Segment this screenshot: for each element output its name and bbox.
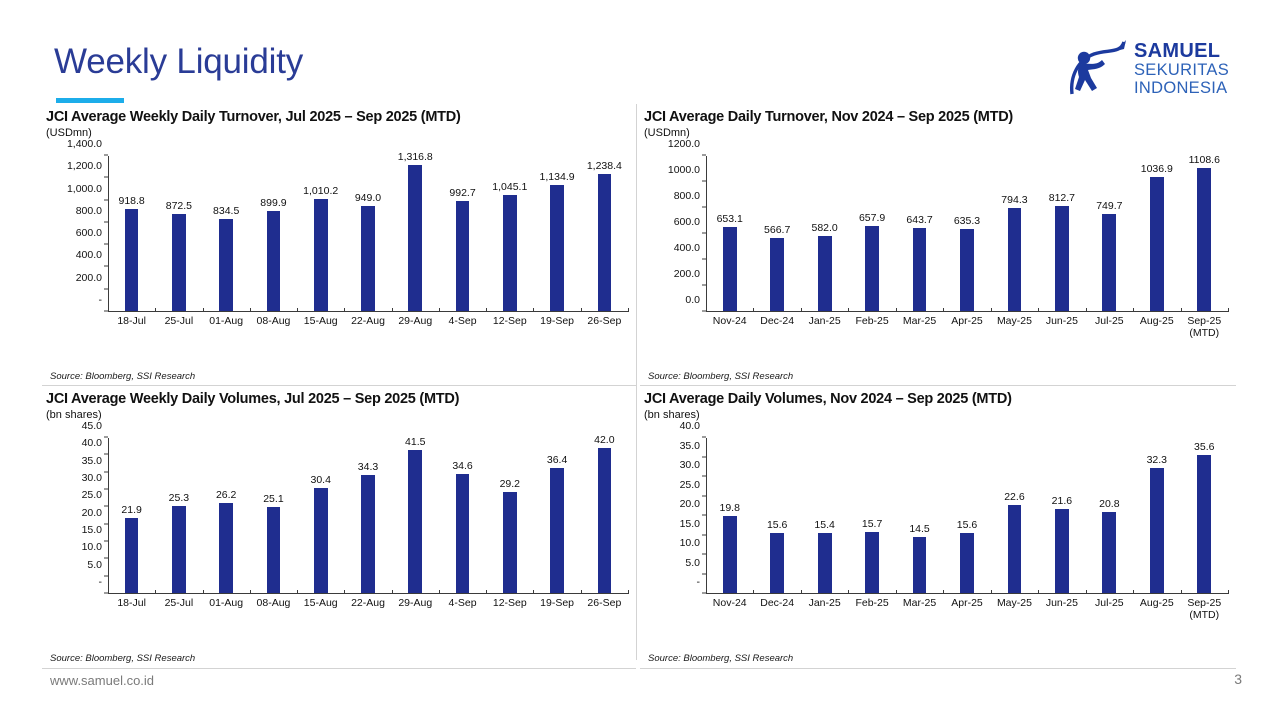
logo-line-2: SEKURITAS <box>1134 62 1229 80</box>
x-axis-category-label: 08-Aug <box>250 597 297 609</box>
bar-value-label: 35.6 <box>1194 441 1214 453</box>
bar[interactable]: 949.0 <box>361 206 375 311</box>
bar[interactable]: 749.7 <box>1102 214 1116 311</box>
bar-value-label: 15.7 <box>862 518 882 530</box>
bar-value-label: 872.5 <box>166 200 192 212</box>
bar[interactable]: 30.4 <box>314 488 328 593</box>
bar-slot: 872.525-Jul <box>155 156 202 311</box>
divider-vertical <box>636 104 637 660</box>
bar-value-label: 30.4 <box>310 474 330 486</box>
slide: Weekly Liquidity SAMUEL SEKURITAS INDONE… <box>0 0 1280 720</box>
bar[interactable]: 812.7 <box>1055 206 1069 311</box>
y-axis-tick-label: 200.0 <box>674 268 700 280</box>
y-axis-tick-label: 0.0 <box>685 294 700 306</box>
y-axis-tick-label: 40.0 <box>82 437 102 449</box>
bar[interactable]: 1,316.8 <box>408 165 422 311</box>
x-axis-category-label: Sep-25(MTD) <box>1181 315 1228 339</box>
bar[interactable]: 26.2 <box>219 503 233 593</box>
x-axis-category-label: May-25 <box>991 597 1038 609</box>
page-title: Weekly Liquidity <box>54 44 303 79</box>
chart-monthly-turnover: 0.0200.0400.0600.0800.01000.01200.0653.1… <box>644 146 1234 346</box>
x-axis-category-label: 25-Jul <box>155 315 202 327</box>
bar-value-label: 794.3 <box>1001 194 1027 206</box>
x-axis-category-label: 12-Sep <box>486 315 533 327</box>
logo-wordmark: SAMUEL SEKURITAS INDONESIA <box>1134 41 1229 98</box>
bar[interactable]: 15.6 <box>960 533 974 593</box>
x-axis-category-label: Nov-24 <box>706 315 753 327</box>
chart-weekly-turnover: -200.0400.0600.0800.01,000.01,200.01,400… <box>46 146 634 346</box>
bar-slot: 1,045.112-Sep <box>486 156 533 311</box>
y-axis-tick-label: - <box>99 294 103 306</box>
divider-bottom-left <box>42 668 636 669</box>
x-axis-category-label: Jun-25 <box>1038 597 1085 609</box>
y-axis-tick-label: 5.0 <box>87 559 102 571</box>
bar-slot: 26.201-Aug <box>203 438 250 593</box>
bar-value-label: 29.2 <box>500 478 520 490</box>
bar[interactable]: 1108.6 <box>1197 168 1211 311</box>
bar-value-label: 1,010.2 <box>303 185 338 197</box>
y-axis-tick-label: 800.0 <box>76 205 102 217</box>
bar-value-label: 22.6 <box>1004 491 1024 503</box>
bar-value-label: 1,238.4 <box>587 160 622 172</box>
panel-monthly-turnover: JCI Average Daily Turnover, Nov 2024 – S… <box>644 110 1234 382</box>
x-axis-category-label: 4-Sep <box>439 597 486 609</box>
y-axis-tick-label: - <box>99 576 103 588</box>
panel-weekly-turnover: JCI Average Weekly Daily Turnover, Jul 2… <box>46 110 634 382</box>
y-axis-tick-label: 15.0 <box>680 518 700 530</box>
bar-slot: 34.64-Sep <box>439 438 486 593</box>
bar[interactable]: 29.2 <box>503 492 517 593</box>
bar-slot: 1,316.829-Aug <box>392 156 439 311</box>
x-axis-category-label: Feb-25 <box>848 315 895 327</box>
bar-slot: 749.7Jul-25 <box>1086 156 1133 311</box>
y-axis-tick-label: 600.0 <box>76 227 102 239</box>
panel-source: Source: Bloomberg, SSI Research <box>50 653 195 664</box>
panel-unit-label: (USDmn) <box>644 127 1234 139</box>
bar[interactable]: 1,238.4 <box>598 174 612 311</box>
x-axis-category-label: 08-Aug <box>250 315 297 327</box>
bar[interactable]: 15.4 <box>818 533 832 593</box>
bar-slot: 29.212-Sep <box>486 438 533 593</box>
bar[interactable]: 15.6 <box>770 533 784 593</box>
chart-weekly-volumes: -5.010.015.020.025.030.035.040.045.021.9… <box>46 428 634 628</box>
x-axis-category-label: May-25 <box>991 315 1038 327</box>
plot-area: -5.010.015.020.025.030.035.040.019.8Nov-… <box>706 438 1228 594</box>
x-axis-category-label: 22-Aug <box>344 597 391 609</box>
x-axis-tick-mark <box>1228 590 1229 594</box>
x-axis-line <box>706 311 1228 312</box>
bar[interactable]: 15.7 <box>865 532 879 593</box>
y-axis-tick-label: 20.0 <box>680 498 700 510</box>
x-axis-category-label: 12-Sep <box>486 597 533 609</box>
footer-website-url: www.samuel.co.id <box>50 673 154 688</box>
bar-value-label: 899.9 <box>260 197 286 209</box>
divider-horizontal-right <box>640 385 1236 386</box>
bar[interactable]: 643.7 <box>913 228 927 311</box>
y-axis-tick-label: 30.0 <box>680 459 700 471</box>
bar-slot: 19.8Nov-24 <box>706 438 753 593</box>
x-axis-line <box>706 593 1228 594</box>
x-axis-tick-mark <box>1228 308 1229 312</box>
x-axis-category-label: 01-Aug <box>203 315 250 327</box>
y-axis-tick-label: 20.0 <box>82 507 102 519</box>
plot-area: -200.0400.0600.0800.01,000.01,200.01,400… <box>108 156 628 312</box>
x-axis-category-sublabel: (MTD) <box>1181 609 1228 621</box>
y-axis-tick-label: - <box>697 576 701 588</box>
bar[interactable]: 21.6 <box>1055 509 1069 593</box>
panel-title: JCI Average Daily Turnover, Nov 2024 – S… <box>644 110 1234 126</box>
x-axis-category-label: Dec-24 <box>753 597 800 609</box>
bar-slot: 36.419-Sep <box>533 438 580 593</box>
x-axis-category-label: 01-Aug <box>203 597 250 609</box>
panel-unit-label: (bn shares) <box>46 409 634 421</box>
page-number: 3 <box>1234 671 1242 687</box>
y-axis-tick-label: 1,200.0 <box>67 160 102 172</box>
bar[interactable]: 42.0 <box>598 448 612 593</box>
bar-value-label: 26.2 <box>216 489 236 501</box>
bar-value-label: 36.4 <box>547 454 567 466</box>
bar[interactable]: 32.3 <box>1150 468 1164 593</box>
panel-monthly-volumes: JCI Average Daily Volumes, Nov 2024 – Se… <box>644 392 1234 664</box>
bar-slot: 812.7Jun-25 <box>1038 156 1085 311</box>
x-axis-category-label: Aug-25 <box>1133 315 1180 327</box>
x-axis-category-label: Sep-25(MTD) <box>1181 597 1228 621</box>
bar-slot: 566.7Dec-24 <box>753 156 800 311</box>
bar-value-label: 41.5 <box>405 436 425 448</box>
y-axis-tick-label: 5.0 <box>685 557 700 569</box>
x-axis-line <box>108 593 628 594</box>
bar-slot: 14.5Mar-25 <box>896 438 943 593</box>
x-axis-tick-mark <box>628 590 629 594</box>
bar-value-label: 566.7 <box>764 224 790 236</box>
bar-value-label: 635.3 <box>954 215 980 227</box>
bar-value-label: 21.9 <box>121 504 141 516</box>
x-axis-category-label: 19-Sep <box>533 597 580 609</box>
bar-slot: 15.4Jan-25 <box>801 438 848 593</box>
bar[interactable]: 25.3 <box>172 506 186 593</box>
bar-value-label: 32.3 <box>1147 454 1167 466</box>
bar[interactable]: 25.1 <box>267 507 281 593</box>
bar[interactable]: 1,010.2 <box>314 199 328 311</box>
x-axis-category-label: 15-Aug <box>297 315 344 327</box>
bar-slot: 918.818-Jul <box>108 156 155 311</box>
panel-source: Source: Bloomberg, SSI Research <box>648 653 793 664</box>
x-axis-category-label: Feb-25 <box>848 597 895 609</box>
bar-value-label: 1,045.1 <box>492 181 527 193</box>
bar-slot: 992.74-Sep <box>439 156 486 311</box>
y-axis-tick-label: 25.0 <box>82 489 102 501</box>
bar[interactable]: 657.9 <box>865 226 879 311</box>
bar[interactable]: 34.6 <box>456 474 470 593</box>
y-axis-tick-label: 600.0 <box>674 216 700 228</box>
divider-bottom-right <box>640 668 1236 669</box>
bar-slot: 15.6Apr-25 <box>943 438 990 593</box>
y-axis-tick-label: 45.0 <box>82 420 102 432</box>
bar[interactable]: 1,045.1 <box>503 195 517 311</box>
bar-value-label: 25.3 <box>169 492 189 504</box>
x-axis-category-label: 26-Sep <box>581 315 628 327</box>
x-axis-category-label: 22-Aug <box>344 315 391 327</box>
y-axis-tick-label: 1200.0 <box>668 138 700 150</box>
x-axis-category-label: 26-Sep <box>581 597 628 609</box>
x-axis-line <box>108 311 628 312</box>
x-axis-category-label: 19-Sep <box>533 315 580 327</box>
x-axis-category-label: 18-Jul <box>108 597 155 609</box>
bar-value-label: 657.9 <box>859 212 885 224</box>
bar-value-label: 643.7 <box>906 214 932 226</box>
panel-unit-label: (bn shares) <box>644 409 1234 421</box>
bar[interactable]: 872.5 <box>172 214 186 311</box>
x-axis-category-label: 15-Aug <box>297 597 344 609</box>
x-axis-category-label: Dec-24 <box>753 315 800 327</box>
bar[interactable]: 21.9 <box>125 518 139 593</box>
bar-value-label: 25.1 <box>263 493 283 505</box>
y-axis-tick-label: 400.0 <box>674 242 700 254</box>
y-axis-tick-label: 15.0 <box>82 524 102 536</box>
y-axis-tick-label: 30.0 <box>82 472 102 484</box>
panel-unit-label: (USDmn) <box>46 127 634 139</box>
bar-value-label: 1036.9 <box>1141 163 1173 175</box>
bar-value-label: 992.7 <box>449 187 475 199</box>
bar[interactable]: 899.9 <box>267 211 281 311</box>
bar-slot: 42.026-Sep <box>581 438 628 593</box>
bar-slot: 834.501-Aug <box>203 156 250 311</box>
bar-value-label: 34.3 <box>358 461 378 473</box>
bar-slot: 21.918-Jul <box>108 438 155 593</box>
bar[interactable]: 1036.9 <box>1150 177 1164 311</box>
y-axis-tick-label: 10.0 <box>680 537 700 549</box>
x-axis-category-label: Mar-25 <box>896 315 943 327</box>
bar[interactable]: 36.4 <box>550 468 564 593</box>
bar-value-label: 14.5 <box>909 523 929 535</box>
bar[interactable]: 20.8 <box>1102 512 1116 593</box>
bar[interactable]: 19.8 <box>723 516 737 593</box>
x-axis-category-label: Jan-25 <box>801 597 848 609</box>
bar-slot: 15.7Feb-25 <box>848 438 895 593</box>
y-axis-tick-label: 200.0 <box>76 272 102 284</box>
bar-value-label: 834.5 <box>213 205 239 217</box>
y-axis-tick-label: 25.0 <box>680 479 700 491</box>
bar-value-label: 42.0 <box>594 434 614 446</box>
bar[interactable]: 35.6 <box>1197 455 1211 593</box>
bar-value-label: 15.6 <box>767 519 787 531</box>
bar-slot: 899.908-Aug <box>250 156 297 311</box>
x-axis-category-label: Apr-25 <box>943 315 990 327</box>
x-axis-category-label: 4-Sep <box>439 315 486 327</box>
bar[interactable]: 14.5 <box>913 537 927 593</box>
bar-slot: 657.9Feb-25 <box>848 156 895 311</box>
panel-weekly-volumes: JCI Average Weekly Daily Volumes, Jul 20… <box>46 392 634 664</box>
bar[interactable]: 794.3 <box>1008 208 1022 311</box>
bar[interactable]: 22.6 <box>1008 505 1022 593</box>
chart-monthly-volumes: -5.010.015.020.025.030.035.040.019.8Nov-… <box>644 428 1234 628</box>
bar-value-label: 1,316.8 <box>398 151 433 163</box>
bar-value-label: 34.6 <box>452 460 472 472</box>
logo-line-1: SAMUEL <box>1134 41 1229 62</box>
bar[interactable]: 918.8 <box>125 209 139 311</box>
y-axis-tick-label: 40.0 <box>680 420 700 432</box>
bar-slot: 15.6Dec-24 <box>753 438 800 593</box>
x-axis-category-label: Apr-25 <box>943 597 990 609</box>
panel-source: Source: Bloomberg, SSI Research <box>648 371 793 382</box>
bar[interactable]: 834.5 <box>219 219 233 311</box>
bar-slot: 1,238.426-Sep <box>581 156 628 311</box>
y-axis-tick-label: 1,400.0 <box>67 138 102 150</box>
bar-slot: 20.8Jul-25 <box>1086 438 1133 593</box>
y-axis-tick-label: 35.0 <box>680 440 700 452</box>
bar[interactable]: 582.0 <box>818 236 832 311</box>
panel-source: Source: Bloomberg, SSI Research <box>50 371 195 382</box>
bar[interactable]: 635.3 <box>960 229 974 311</box>
logo-line-3: INDONESIA <box>1134 80 1229 98</box>
panel-title: JCI Average Weekly Daily Volumes, Jul 20… <box>46 392 634 408</box>
bar[interactable]: 41.5 <box>408 450 422 593</box>
x-axis-category-label: 25-Jul <box>155 597 202 609</box>
y-axis-tick-label: 35.0 <box>82 455 102 467</box>
bar-slot: 949.022-Aug <box>344 156 391 311</box>
x-axis-category-label: Nov-24 <box>706 597 753 609</box>
bar-slot: 1108.6Sep-25(MTD) <box>1181 156 1228 311</box>
panel-title: JCI Average Daily Volumes, Nov 2024 – Se… <box>644 392 1234 408</box>
bar-slot: 34.322-Aug <box>344 438 391 593</box>
x-axis-category-label: Mar-25 <box>896 597 943 609</box>
bar-slot: 25.325-Jul <box>155 438 202 593</box>
x-axis-tick-mark <box>628 308 629 312</box>
bar-value-label: 949.0 <box>355 192 381 204</box>
bar-slot: 1036.9Aug-25 <box>1133 156 1180 311</box>
y-axis-tick-label: 1,000.0 <box>67 183 102 195</box>
plot-area: -5.010.015.020.025.030.035.040.045.021.9… <box>108 438 628 594</box>
y-axis-tick-label: 400.0 <box>76 249 102 261</box>
bar-slot: 794.3May-25 <box>991 156 1038 311</box>
plot-area: 0.0200.0400.0600.0800.01000.01200.0653.1… <box>706 156 1228 312</box>
bar-slot: 582.0Jan-25 <box>801 156 848 311</box>
bar-slot: 643.7Mar-25 <box>896 156 943 311</box>
bar-value-label: 918.8 <box>118 195 144 207</box>
bar-value-label: 19.8 <box>720 502 740 514</box>
company-logo: SAMUEL SEKURITAS INDONESIA <box>1064 36 1246 104</box>
bar-slot: 35.6Sep-25(MTD) <box>1181 438 1228 593</box>
bar-slot: 653.1Nov-24 <box>706 156 753 311</box>
bar-slot: 41.529-Aug <box>392 438 439 593</box>
bar-slot: 21.6Jun-25 <box>1038 438 1085 593</box>
bar-value-label: 15.4 <box>814 519 834 531</box>
bar-slot: 30.415-Aug <box>297 438 344 593</box>
bar[interactable]: 1,134.9 <box>550 185 564 311</box>
bar[interactable]: 653.1 <box>723 227 737 311</box>
y-axis-tick-label: 10.0 <box>82 541 102 553</box>
bar-slot: 1,134.919-Sep <box>533 156 580 311</box>
y-axis-tick-label: 1000.0 <box>668 164 700 176</box>
x-axis-category-label: Jul-25 <box>1086 597 1133 609</box>
bar-value-label: 1,134.9 <box>540 171 575 183</box>
bar-slot: 22.6May-25 <box>991 438 1038 593</box>
bar-slot: 635.3Apr-25 <box>943 156 990 311</box>
bar-value-label: 20.8 <box>1099 498 1119 510</box>
bar-slot: 25.108-Aug <box>250 438 297 593</box>
x-axis-category-label: 18-Jul <box>108 315 155 327</box>
x-axis-category-label: 29-Aug <box>392 597 439 609</box>
bar-value-label: 653.1 <box>717 213 743 225</box>
x-axis-category-label: 29-Aug <box>392 315 439 327</box>
bar[interactable]: 566.7 <box>770 238 784 311</box>
x-axis-category-label: Jun-25 <box>1038 315 1085 327</box>
bar[interactable]: 34.3 <box>361 475 375 593</box>
x-axis-category-label: Jul-25 <box>1086 315 1133 327</box>
bar-slot: 32.3Aug-25 <box>1133 438 1180 593</box>
bar-slot: 1,010.215-Aug <box>297 156 344 311</box>
bar-value-label: 582.0 <box>811 222 837 234</box>
panel-title: JCI Average Weekly Daily Turnover, Jul 2… <box>46 110 634 126</box>
title-accent-bar <box>56 98 124 103</box>
archer-icon <box>1064 36 1130 102</box>
divider-horizontal-left <box>42 385 636 386</box>
bar[interactable]: 992.7 <box>456 201 470 311</box>
bar-value-label: 1108.6 <box>1189 154 1220 166</box>
y-axis-tick-label: 800.0 <box>674 190 700 202</box>
x-axis-category-sublabel: (MTD) <box>1181 327 1228 339</box>
x-axis-category-label: Jan-25 <box>801 315 848 327</box>
bar-value-label: 749.7 <box>1096 200 1122 212</box>
bar-value-label: 21.6 <box>1052 495 1072 507</box>
bar-value-label: 812.7 <box>1049 192 1075 204</box>
bar-value-label: 15.6 <box>957 519 977 531</box>
x-axis-category-label: Aug-25 <box>1133 597 1180 609</box>
